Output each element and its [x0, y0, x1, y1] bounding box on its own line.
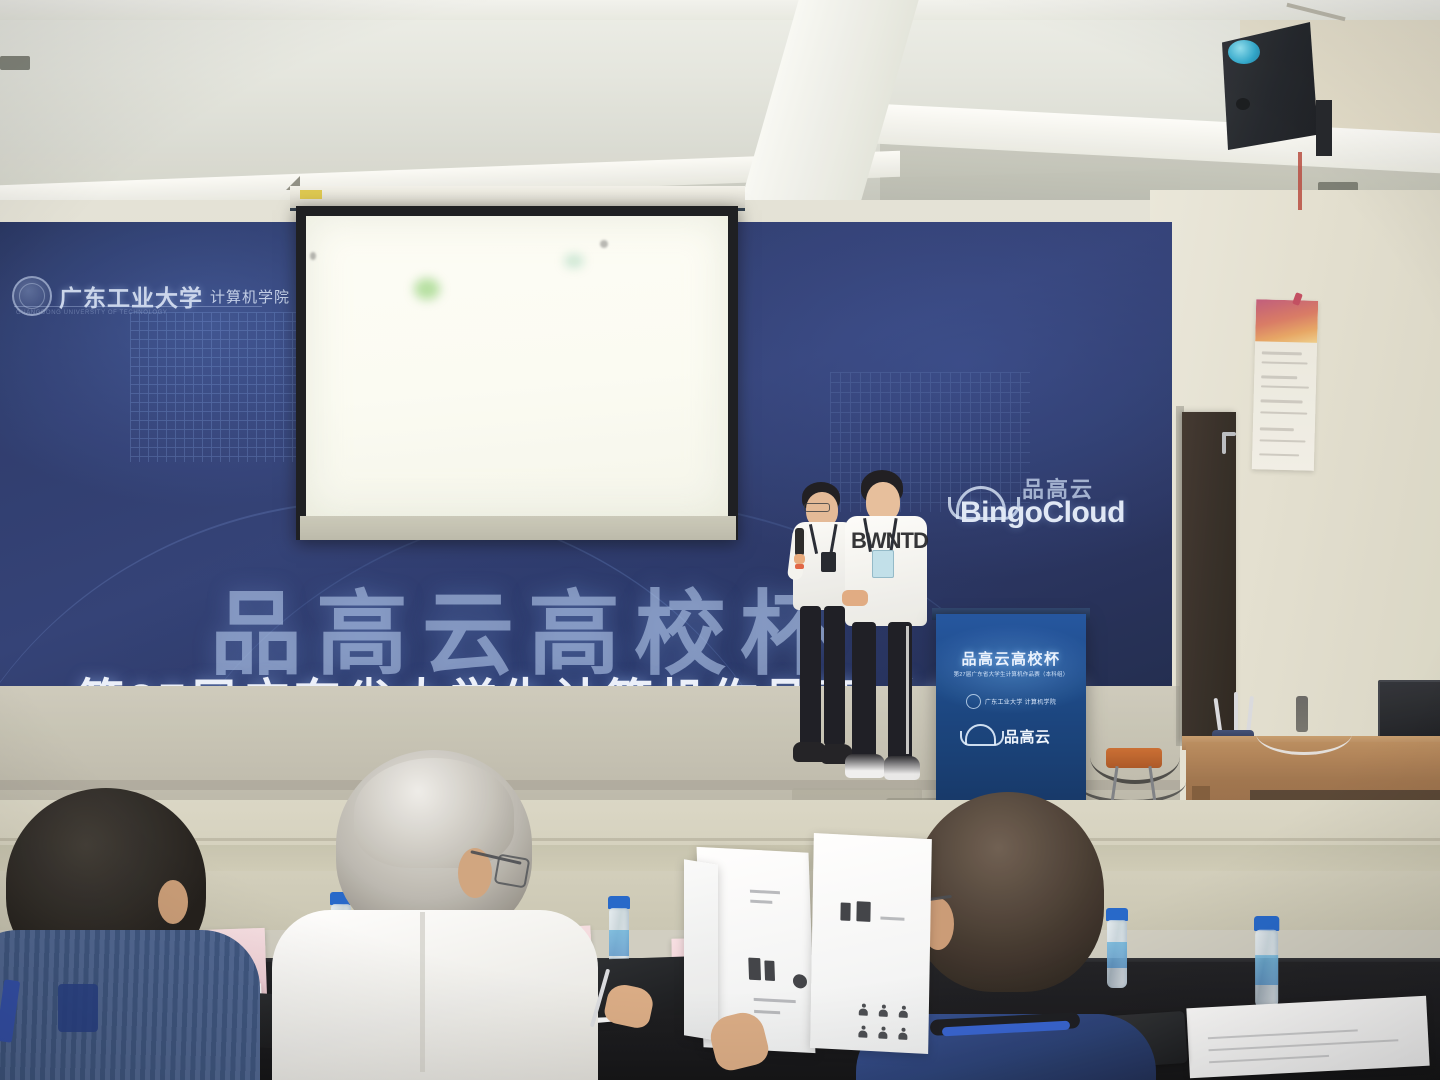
booklet-right-page [810, 833, 932, 1054]
microphone-icon [795, 528, 804, 556]
judge-center-hair [354, 758, 514, 868]
booklet-person-icon-6 [898, 1027, 907, 1040]
sponsor-logo: 品高云 BingoCloud [948, 470, 1138, 532]
podium-cloud-icon [960, 724, 1000, 746]
screen-roller-tab [300, 190, 322, 199]
presenter2-badge [872, 550, 894, 578]
university-name-en: GUANGDONG UNIVERSITY OF TECHNOLOGY [16, 310, 168, 316]
bottle-label-3 [1107, 942, 1127, 968]
podium-title: 品高云高校杯 [936, 648, 1086, 669]
ceiling-beam-top [0, 0, 1440, 20]
booklet-person-icon-2 [879, 1004, 888, 1017]
screen-artifact-dark-2 [600, 240, 608, 248]
bottle-label-2 [609, 930, 629, 956]
speaker-woofer-icon [1236, 98, 1250, 110]
poster-header [1255, 299, 1318, 343]
presenter2-shoe-right [884, 756, 920, 780]
judge-right-head [912, 792, 1104, 992]
banner-dot-grid-left [130, 312, 320, 462]
projection-screen-bottom-bar [300, 516, 736, 540]
bottle-cap-4 [1254, 916, 1279, 931]
wall-speaker-icon [1218, 22, 1318, 150]
door-handle-bar-icon[interactable] [1222, 432, 1236, 436]
judge-center-shirt [272, 910, 598, 1080]
booklet-person-icon-4 [858, 1025, 867, 1038]
router-antenna-2 [1234, 692, 1238, 734]
podium-org-line: 广东工业大学 计算机学院 [985, 697, 1056, 706]
university-logo-rule [14, 306, 262, 307]
wooden-door[interactable] [1182, 412, 1236, 742]
ceiling-vent-1 [0, 56, 30, 70]
orange-stool[interactable] [1106, 748, 1162, 768]
wall-poster [1252, 299, 1318, 471]
screen-artifact-green-2 [564, 254, 584, 268]
podium-subtitle: 第27届广东省大学生计算机作品赛（本科组） [936, 670, 1086, 678]
university-name-cn: 广东工业大学 [59, 279, 203, 313]
speaker-cable [1298, 152, 1302, 210]
projection-screen-surface [306, 216, 728, 516]
bottle-label-4 [1255, 955, 1278, 985]
presenter1-glasses-icon [804, 503, 830, 512]
podium-org-logo: 广东工业大学 计算机学院 [936, 694, 1086, 709]
presenter2-hands-clasped [842, 590, 868, 606]
judge-center-shirt-seam [420, 912, 425, 1072]
judge-left-lanyard-2 [58, 984, 98, 1032]
podium: 品高云高校杯 第27届广东省大学生计算机作品赛（本科组） 广东工业大学 计算机学… [936, 614, 1086, 816]
judge-center-lens-icon [494, 853, 531, 888]
screen-artifact-green-1 [414, 278, 440, 300]
judge-left-shirt [0, 930, 260, 1080]
podium-seal-icon [966, 694, 981, 709]
booklet-person-icon-5 [878, 1026, 887, 1039]
booklet-person-icon-3 [899, 1005, 908, 1018]
speaker-tweeter-icon [1228, 40, 1260, 64]
university-school-cn: 计算机学院 [210, 286, 290, 307]
speaker-mount-bracket [1316, 100, 1332, 156]
presenter1-wristband [795, 564, 804, 569]
podium-brand-cn: 品高云 [1004, 726, 1051, 747]
presenter1-leg-left [800, 606, 821, 746]
booklet-edge-page [684, 859, 718, 1040]
sponsor-brand-en: BingoCloud [960, 496, 1125, 530]
screen-artifact-dark-1 [310, 252, 316, 260]
judge-left-ear [158, 880, 188, 924]
presenter2-leg-left [852, 622, 876, 760]
presenter2-shoe-left [845, 754, 885, 778]
presenter1-hand [794, 554, 805, 564]
presenter1-leg-right [824, 606, 845, 746]
presenter1-badge [821, 552, 836, 572]
photo-scene: 广东工业大学 计算机学院 GUANGDONG UNIVERSITY OF TEC… [0, 0, 1440, 1080]
booklet-person-icon-1 [859, 1003, 868, 1016]
score-sheet-3 [1186, 996, 1429, 1078]
desk-cable-1 [1256, 712, 1352, 755]
presenter2-pants-stripe [906, 626, 909, 754]
